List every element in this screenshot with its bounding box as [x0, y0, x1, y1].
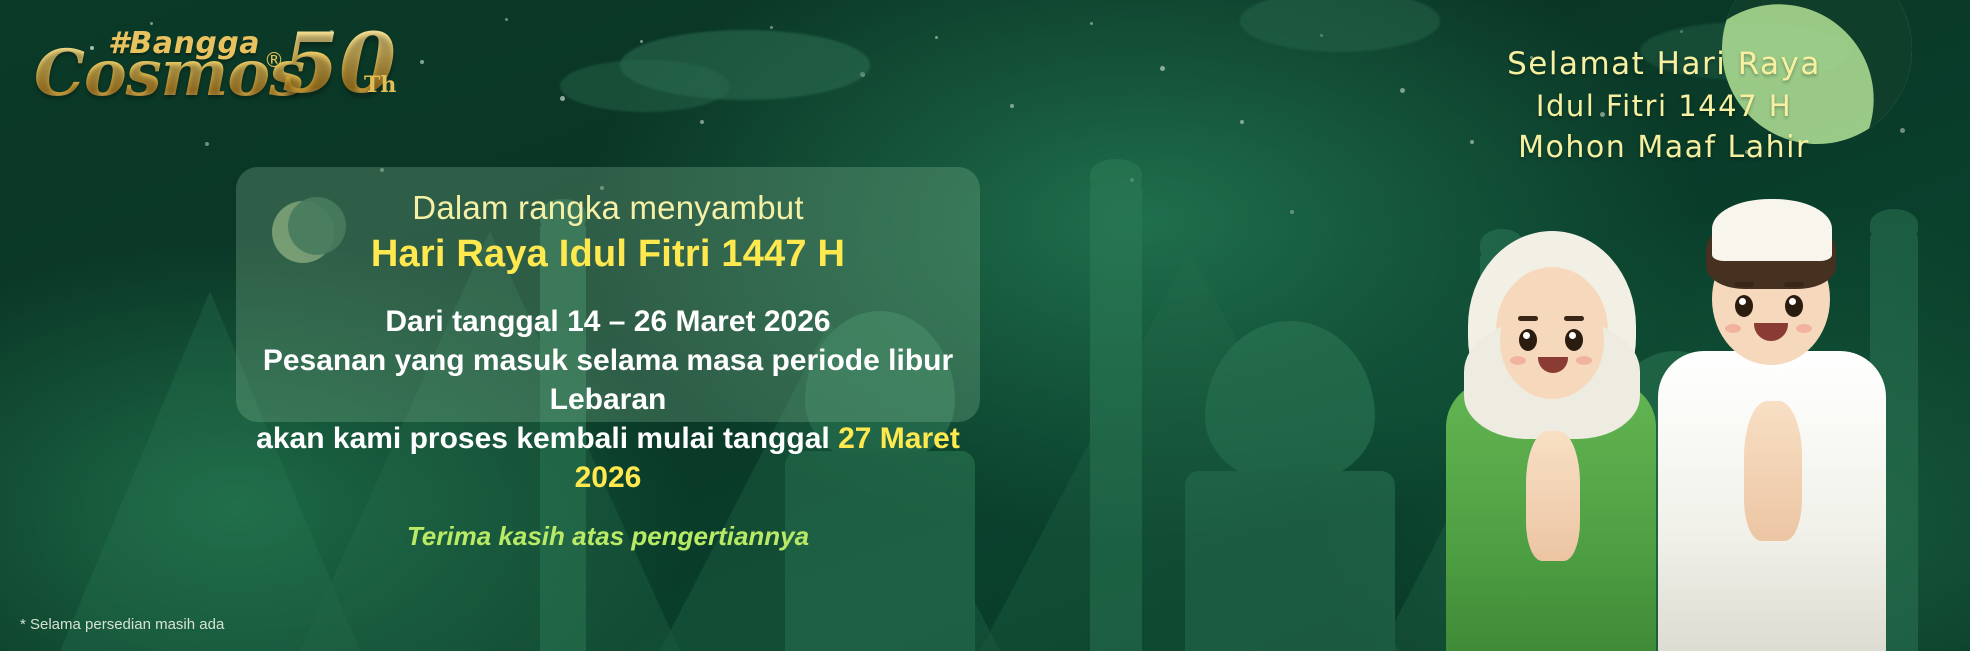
announcement-content: Dalam rangka menyambut Hari Raya Idul Fi… — [236, 167, 980, 552]
girl-eye-right — [1565, 329, 1583, 351]
boy-figure — [1640, 221, 1910, 651]
boy-cheek-left — [1725, 324, 1741, 333]
cosmos-brand-logo: #Bangga Cosmos ® 50 Th — [24, 10, 424, 120]
girl-praying-hands — [1526, 431, 1580, 561]
girl-cheek-right — [1576, 356, 1592, 365]
girl-face — [1500, 283, 1604, 399]
anniversary-suffix: Th — [364, 72, 396, 98]
announcement-body-line-3-prefix: akan kami proses kembali mulai tanggal — [256, 422, 838, 455]
announcement-title: Hari Raya Idul Fitri 1447 H — [236, 233, 980, 276]
greeting-line-1: Selamat Hari Raya — [1404, 42, 1924, 86]
eid-greeting-text: Selamat Hari Raya Idul Fitri 1447 H Moho… — [1404, 42, 1924, 170]
cloud-shape — [560, 60, 730, 112]
footnote-text: * Selama persedian masih ada — [20, 616, 224, 633]
announcement-thanks: Terima kasih atas pengertiannya — [236, 521, 980, 552]
greeting-line-2: Idul Fitri 1447 H — [1404, 86, 1924, 127]
announcement-intro: Dalam rangka menyambut — [236, 189, 980, 227]
announcement-body-line-2: Pesanan yang masuk selama masa periode l… — [236, 341, 980, 419]
eid-promotional-banner: #Bangga Cosmos ® 50 Th Selamat Hari Raya… — [0, 0, 1970, 651]
announcement-body-line-3: akan kami proses kembali mulai tanggal 2… — [236, 419, 980, 497]
boy-brow-left — [1734, 282, 1754, 287]
girl-brow-right — [1564, 316, 1584, 321]
greeting-line-3: Mohon Maaf Lahir — [1404, 127, 1924, 170]
boy-eye-right — [1785, 295, 1803, 317]
girl-brow-left — [1518, 316, 1538, 321]
boy-cheek-right — [1796, 324, 1812, 333]
boy-kopiah-cap — [1712, 199, 1832, 261]
boy-eye-left — [1735, 295, 1753, 317]
announcement-body: Dari tanggal 14 – 26 Maret 2026 Pesanan … — [236, 302, 980, 497]
girl-eye-left — [1519, 329, 1537, 351]
girl-cheek-left — [1510, 356, 1526, 365]
greeting-children-illustration — [1410, 181, 1970, 651]
registered-trademark-icon: ® — [264, 48, 284, 72]
boy-praying-hands — [1744, 401, 1802, 541]
boy-brow-right — [1784, 282, 1804, 287]
announcement-body-line-1: Dari tanggal 14 – 26 Maret 2026 — [236, 302, 980, 341]
